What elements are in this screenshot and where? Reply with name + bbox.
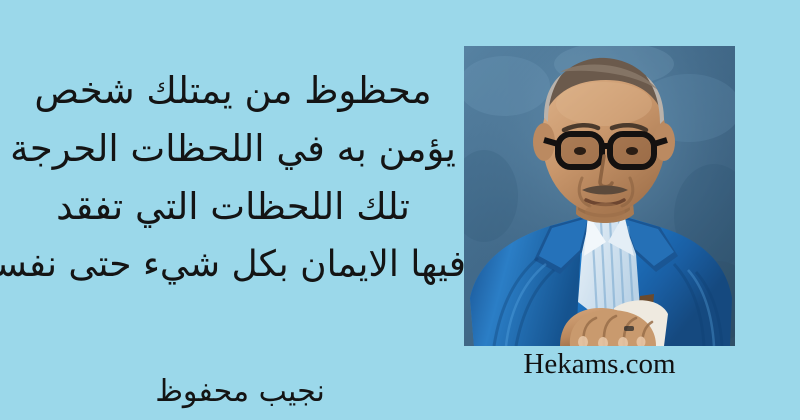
quote-line-1: محظوظ من يمتلك شخص	[0, 62, 466, 120]
author-attribution: نجيب محفوظ	[0, 374, 480, 410]
quote-line-4: فيها الايمان بكل شيء حتى نفسك	[0, 236, 466, 294]
quote-text: محظوظ من يمتلك شخص يؤمن به في اللحظات ال…	[0, 62, 466, 294]
portrait-photo	[464, 46, 735, 346]
quote-line-2: يؤمن به في اللحظات الحرجة	[0, 120, 466, 178]
quote-card: محظوظ من يمتلك شخص يؤمن به في اللحظات ال…	[0, 0, 800, 420]
site-watermark: Hekams.com	[464, 347, 735, 381]
quote-line-3: تلك اللحظات التي تفقد	[0, 178, 466, 236]
